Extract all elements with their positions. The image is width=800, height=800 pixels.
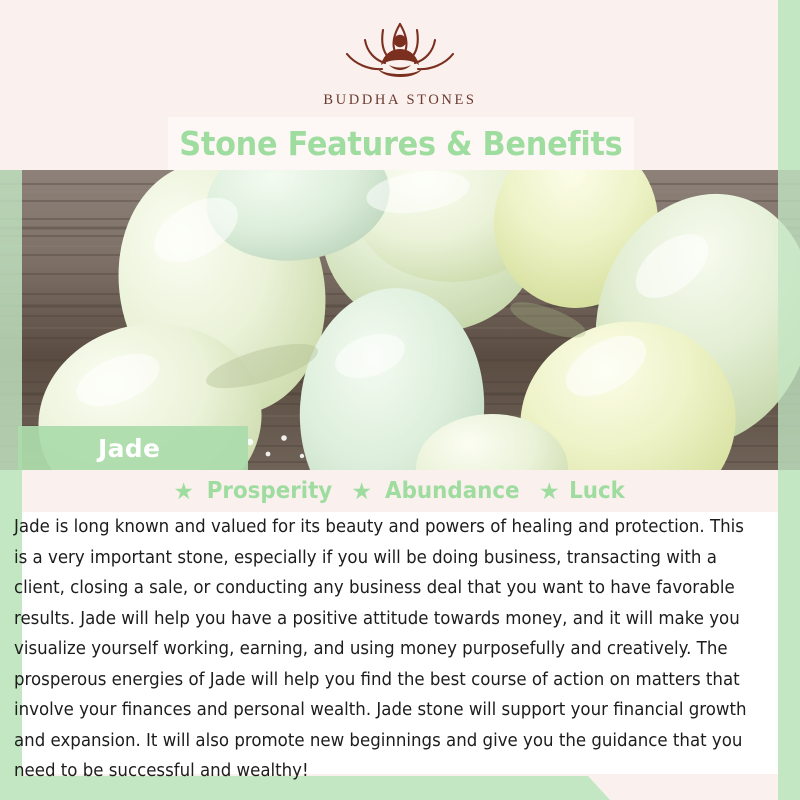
benefit-item-prosperity: ★ Prosperity — [173, 478, 337, 504]
benefits-list: ★ Prosperity ★ Abundance ★ Luck — [0, 478, 800, 504]
benefit-item-abundance: ★ Abundance — [351, 478, 525, 504]
stone-feature-card: BUDDHA STONES Stone Features & Benefits — [0, 0, 800, 800]
benefit-item-luck: ★ Luck — [538, 478, 627, 504]
stone-name-badge: Jade — [18, 426, 248, 470]
star-icon: ★ — [351, 480, 373, 502]
stone-name-label: Jade — [98, 434, 160, 463]
benefit-label: Luck — [569, 478, 625, 504]
brand-name: BUDDHA STONES — [0, 92, 800, 109]
star-icon: ★ — [173, 480, 195, 502]
lotus-meditation-icon — [325, 18, 475, 90]
jade-stones-image — [0, 170, 800, 470]
page-title: Stone Features & Benefits — [179, 124, 622, 163]
hero-photo — [0, 170, 800, 470]
brand-logo: BUDDHA STONES — [0, 18, 800, 109]
star-icon: ★ — [538, 480, 560, 502]
benefit-label: Prosperity — [206, 478, 332, 504]
section-title-banner: Stone Features & Benefits — [168, 117, 634, 170]
decor-green-left-overlay — [0, 170, 22, 470]
benefit-label: Abundance — [385, 478, 519, 504]
decor-green-right-overlay — [778, 170, 800, 470]
description-text: Jade is long known and valued for its be… — [14, 512, 755, 787]
